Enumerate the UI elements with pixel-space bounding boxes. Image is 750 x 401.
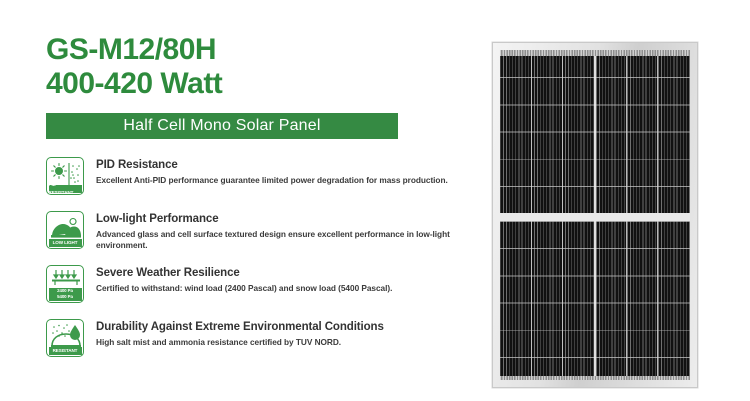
panel-bottom-ribbon [500,376,690,380]
icon-caption: PID RESISTANT [49,185,82,193]
product-spec-banner: GS-M12/80H 400-420 Watt Half Cell Mono S… [0,0,750,401]
feature-title: PID Resistance [96,158,466,172]
panel-cell-columns [500,50,690,213]
product-subtitle-banner: Half Cell Mono Solar Panel [46,113,398,139]
icon-frame: LOW LIGHT [46,211,84,249]
low-light-icon: LOW LIGHT [46,211,84,249]
product-wattage-line: 400-420 Watt [46,67,466,101]
product-model-line: GS-M12/80H [46,33,466,67]
feature-description: Excellent Anti-PID performance guarantee… [96,175,456,186]
panel-center-gap [500,213,690,221]
panel-aluminium-frame [492,42,698,388]
feature-text-block: Low-light Performance Advanced glass and… [96,211,466,251]
icon-caption: LOW LIGHT [49,239,82,247]
pid-resistant-icon: PID RESISTANT [46,157,84,195]
icon-frame: 2400 Pa 5400 Pa [46,265,84,303]
feature-item: LOW LIGHT Low-light Performance Advanced… [46,211,466,251]
feature-list: PID RESISTANT PID Resistance Excellent A… [46,157,466,373]
salt-ammonia-resistant-icon: RESISTANT [46,319,84,357]
feature-description: High salt mist and ammonia resistance ce… [96,337,456,348]
product-title-block: GS-M12/80H 400-420 Watt [46,33,466,101]
icon-frame: RESISTANT [46,319,84,357]
feature-item: PID RESISTANT PID Resistance Excellent A… [46,157,466,197]
feature-description: Certified to withstand: wind load (2400 … [96,283,456,294]
feature-title: Durability Against Extreme Environmental… [96,320,466,334]
panel-glass-area [500,50,690,380]
left-content-column: GS-M12/80H 400-420 Watt Half Cell Mono S… [0,0,480,401]
icon-caption: RESISTANT [49,347,82,355]
feature-text-block: PID Resistance Excellent Anti-PID perfor… [96,157,466,186]
icon-caption-line2: 5400 Pa [57,294,73,300]
feature-text-block: Durability Against Extreme Environmental… [96,319,466,348]
feature-text-block: Severe Weather Resilience Certified to w… [96,265,466,294]
product-subtitle-label: Half Cell Mono Solar Panel [123,117,320,135]
wind-snow-load-icon: 2400 Pa 5400 Pa [46,265,84,303]
icon-frame: PID RESISTANT [46,157,84,195]
panel-top-ribbon [500,50,690,56]
panel-cell-half-top [500,50,690,213]
icon-caption: 2400 Pa 5400 Pa [49,288,82,301]
feature-title: Low-light Performance [96,212,466,226]
feature-item: RESISTANT Durability Against Extreme Env… [46,319,466,359]
feature-item: 2400 Pa 5400 Pa Severe Weather Resilienc… [46,265,466,305]
feature-description: Advanced glass and cell surface textured… [96,229,456,251]
panel-cell-half-bottom [500,221,690,380]
feature-title: Severe Weather Resilience [96,266,466,280]
panel-cell-columns [500,221,690,380]
half-cell-mono-solar-panel-photo [492,42,698,388]
